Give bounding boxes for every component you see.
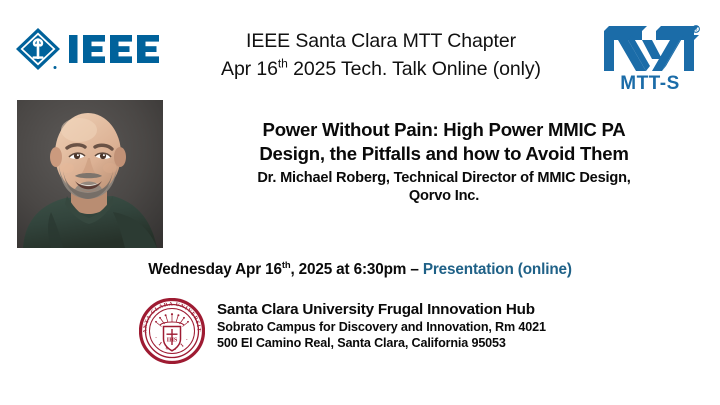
chapter-line-1: IEEE Santa Clara MTT Chapter xyxy=(186,28,576,56)
venue-name: Santa Clara University Frugal Innovation… xyxy=(217,301,546,319)
talk-block: Power Without Pain: High Power MMIC PA D… xyxy=(176,118,712,206)
chapter-date-post: 2025 Tech. Talk Online (only) xyxy=(288,58,541,80)
venue-address-line-1: Sobrato Campus for Discovery and Innovat… xyxy=(217,320,546,335)
talk-title-line-1: Power Without Pain: High Power MMIC PA xyxy=(176,118,712,142)
talk-speaker-line-1: Dr. Michael Roberg, Technical Director o… xyxy=(176,169,712,188)
chapter-date-ordinal: th xyxy=(278,56,288,70)
talk-title-line-2: Design, the Pitfalls and how to Avoid Th… xyxy=(176,142,712,166)
venue-block: SANTA CLARA UNIVERSITY · 1 8 5 1 · xyxy=(139,297,659,364)
schedule-separator: – xyxy=(410,261,422,278)
schedule-datetime: , 2025 at 6:30pm xyxy=(290,261,410,278)
ieee-logo xyxy=(14,26,174,72)
santa-clara-university-seal-icon: SANTA CLARA UNIVERSITY · 1 8 5 1 · xyxy=(139,298,205,364)
talk-speaker: Dr. Michael Roberg, Technical Director o… xyxy=(176,169,712,206)
schedule-mode-badge: Presentation (online) xyxy=(423,261,572,278)
schedule-day: Wednesday Apr 16 xyxy=(148,261,282,278)
talk-speaker-line-2: Qorvo Inc. xyxy=(176,187,712,206)
talk-title: Power Without Pain: High Power MMIC PA D… xyxy=(176,118,712,166)
schedule-line: Wednesday Apr 16th, 2025 at 6:30pm – Pre… xyxy=(0,261,720,279)
venue-text: Santa Clara University Frugal Innovation… xyxy=(217,297,546,352)
seal-monogram: IHS xyxy=(167,337,178,344)
mtt-s-wordmark: MTT-S xyxy=(620,73,680,93)
venue-address-line-2: 500 El Camino Real, Santa Clara, Califor… xyxy=(217,336,546,351)
chapter-date-pre: Apr 16 xyxy=(221,58,278,80)
chapter-header: IEEE Santa Clara MTT Chapter Apr 16th 20… xyxy=(186,28,576,83)
speaker-photo xyxy=(17,100,163,248)
event-flyer-slide: IEEE Santa Clara MTT Chapter Apr 16th 20… xyxy=(0,0,720,405)
mtt-s-logo: R MTT-S xyxy=(598,23,702,93)
chapter-line-2: Apr 16th 2025 Tech. Talk Online (only) xyxy=(186,56,576,84)
